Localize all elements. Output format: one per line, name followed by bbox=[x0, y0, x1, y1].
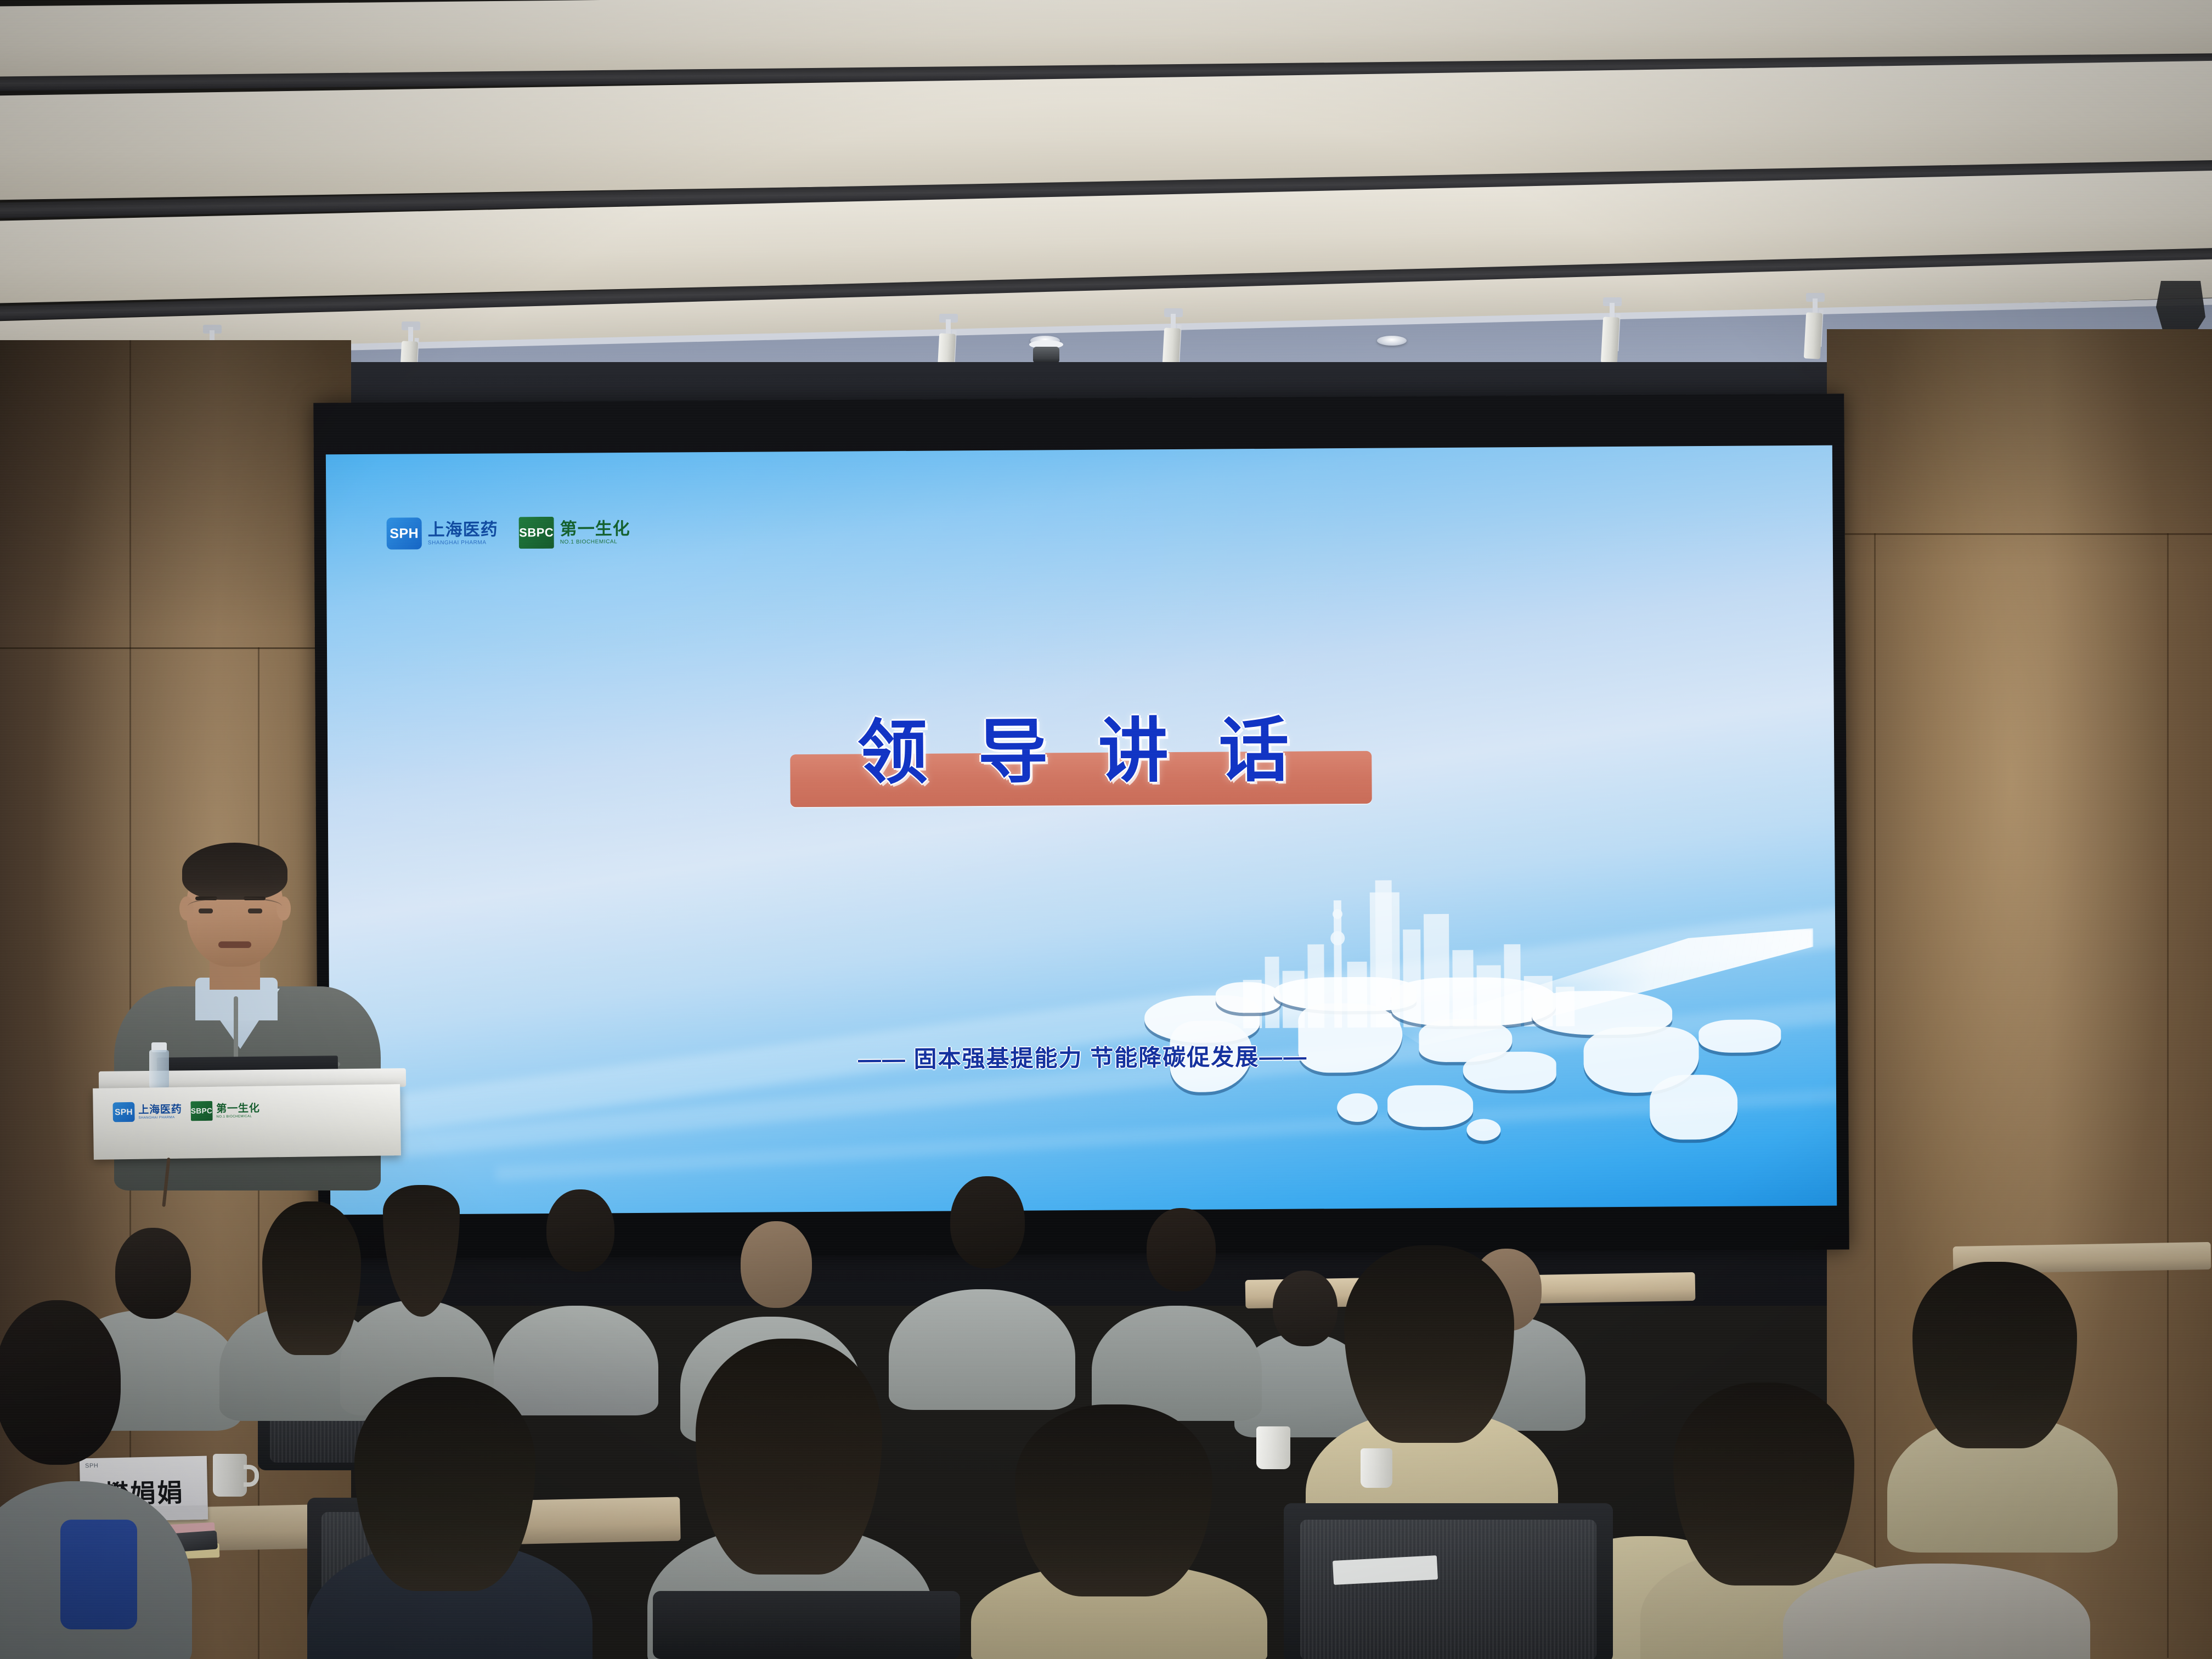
sbpc-logo-name-en: NO.1 BIOCHEMICAL bbox=[560, 539, 630, 545]
speaker-mouth bbox=[218, 941, 251, 948]
slide-title-block: 领 导 讲 话 bbox=[328, 690, 1835, 801]
sbpc-logo-name-cn: 第一生化 bbox=[560, 520, 630, 538]
coffee-mug bbox=[1361, 1448, 1392, 1488]
slide-logo-row: SPH 上海医药 SHANGHAI PHARMA SBPC 第一生化 NO.1 … bbox=[387, 516, 630, 550]
audience-person bbox=[0, 1284, 192, 1659]
audience-person bbox=[1783, 1503, 2090, 1659]
water-bottle bbox=[149, 1050, 169, 1088]
sbpc-logo-mark: SBPC bbox=[519, 517, 554, 549]
track-spotlight bbox=[1602, 303, 1622, 363]
recessed-downlight bbox=[1377, 336, 1407, 346]
coffee-mug-handle bbox=[244, 1465, 259, 1487]
logo-sph: SPH 上海医药 SHANGHAI PHARMA bbox=[387, 517, 498, 549]
sbpc-logo-mark: SBPC bbox=[190, 1101, 212, 1121]
coffee-mug bbox=[1256, 1426, 1290, 1469]
speaker-hair bbox=[182, 843, 287, 900]
chair-mesh-back bbox=[1300, 1520, 1596, 1659]
logo-sbpc: SBPC 第一生化 NO.1 BIOCHEMICAL bbox=[519, 516, 630, 549]
conference-room-photo: SPH 上海医药 SHANGHAI PHARMA SBPC 第一生化 NO.1 … bbox=[0, 0, 2212, 1659]
sbpc-logo-name-cn: 第一生化 bbox=[216, 1103, 260, 1114]
audience-person bbox=[971, 1404, 1267, 1659]
podium-logo-sbpc: SBPC 第一生化 NO.1 BIOCHEMICAL bbox=[190, 1101, 259, 1121]
audience-area: SPH 樊娟娟 bbox=[0, 1119, 2212, 1659]
audience-person bbox=[307, 1377, 592, 1659]
speaker-glasses-icon bbox=[188, 898, 282, 919]
presentation-slide: SPH 上海医药 SHANGHAI PHARMA SBPC 第一生化 NO.1 … bbox=[326, 445, 1837, 1215]
sbpc-logo-name-en: NO.1 BIOCHEMICAL bbox=[216, 1114, 259, 1118]
slide-title: 领 导 讲 话 bbox=[328, 690, 1835, 801]
coffee-mug bbox=[213, 1454, 247, 1497]
audience-person bbox=[1092, 1196, 1262, 1415]
chair bbox=[653, 1591, 960, 1659]
sph-logo-mark: SPH bbox=[387, 517, 422, 549]
audience-person bbox=[494, 1180, 658, 1410]
sph-logo-name-en: SHANGHAI PHARMA bbox=[428, 540, 498, 546]
audience-person bbox=[340, 1185, 494, 1404]
sph-logo-name-cn: 上海医药 bbox=[428, 521, 498, 538]
sph-logo-name-cn: 上海医药 bbox=[138, 1104, 182, 1115]
track-spotlight bbox=[1805, 298, 1825, 359]
